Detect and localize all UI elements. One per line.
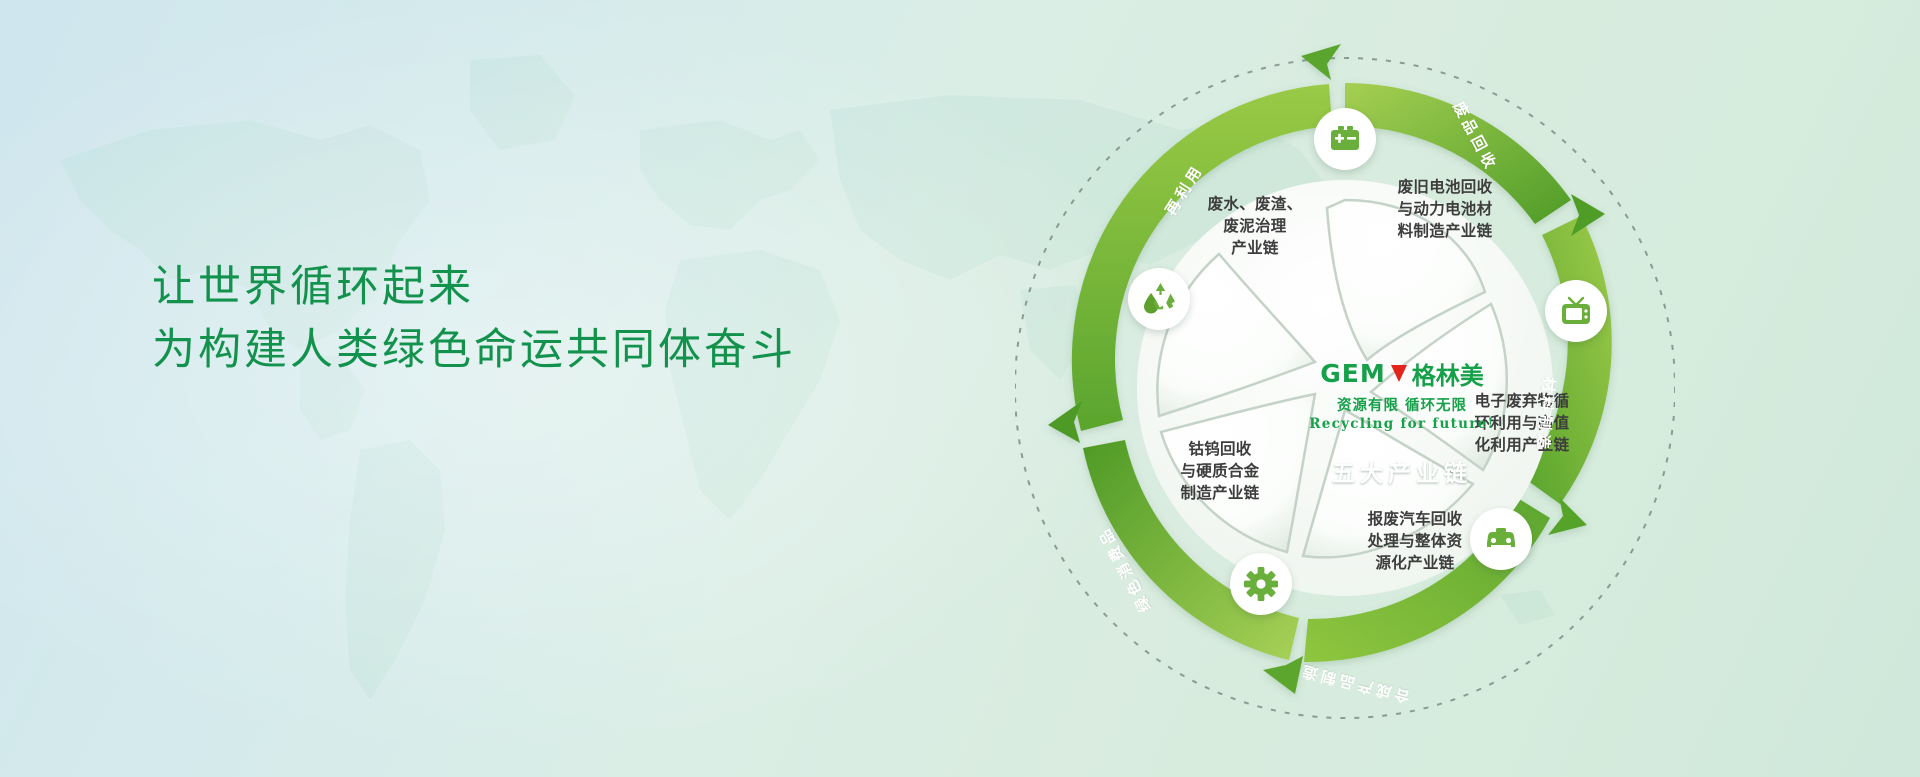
recycle-drop-icon	[1140, 280, 1178, 318]
center-title: 五大产业链	[1307, 454, 1497, 488]
gear-icon	[1243, 566, 1279, 602]
brand-slogan-cn: 资源有限 循环无限	[1307, 394, 1497, 415]
headline-line-1: 让世界循环起来	[152, 256, 1012, 319]
brand-slogan-en: Recycling for future!	[1307, 416, 1497, 432]
television-icon	[1559, 294, 1593, 328]
car-icon	[1483, 521, 1519, 557]
brand-latin: GEM	[1320, 359, 1385, 388]
segment-label-cobalt: 钴钨回收 与硬质合金 制造产业链	[1125, 438, 1315, 504]
headline-line-2: 为构建人类绿色命运共同体奋斗	[152, 319, 1012, 382]
headline-block: 让世界循环起来 为构建人类绿色命运共同体奋斗	[152, 256, 1012, 382]
television-icon-bubble	[1545, 280, 1607, 342]
brand-chinese: 格林美	[1412, 356, 1484, 391]
battery-icon	[1328, 122, 1362, 156]
segment-label-battery: 废旧电池回收 与动力电池材 料制造产业链	[1345, 176, 1545, 242]
recycle-drop-icon-bubble	[1128, 268, 1190, 330]
segment-label-waste-water: 废水、废渣、 废泥治理 产业链	[1160, 193, 1350, 259]
car-icon-bubble	[1470, 508, 1532, 570]
five-industry-chain-diagram: 废水、废渣、 废泥治理 产业链 废旧电池回收 与动力电池材 料制造产业链 电子废…	[1015, 8, 1675, 768]
brand-triangle-icon	[1391, 365, 1407, 382]
gear-icon-bubble	[1230, 553, 1292, 615]
center-logo-block: GEM 格林美 资源有限 循环无限 Recycling for future! …	[1307, 356, 1497, 488]
battery-icon-bubble	[1314, 108, 1376, 170]
